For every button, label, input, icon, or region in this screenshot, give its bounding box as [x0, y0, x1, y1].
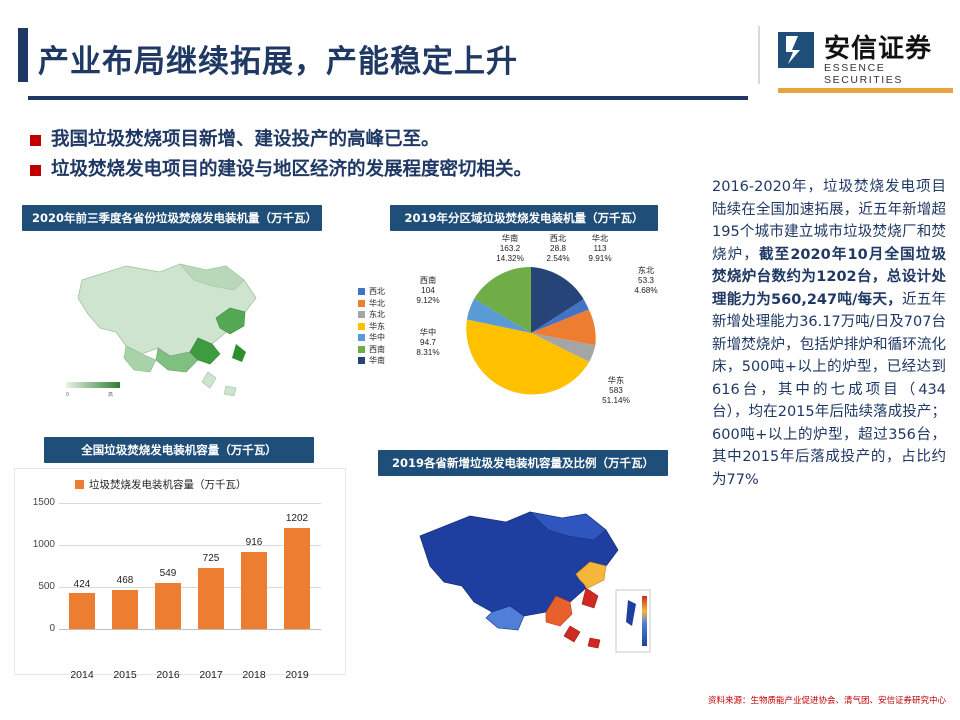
legend-swatch-capacity	[75, 480, 84, 489]
bar-legend: 垃圾焚烧发电装机容量（万千瓦）	[75, 477, 247, 492]
logo-english-name: ESSENCE SECURITIES	[824, 62, 953, 86]
bar-plot-area: 0 500 1000 1500 424 468 549 725 916 1202…	[59, 503, 321, 629]
pie-label-value: 163.2	[488, 244, 532, 254]
legend-label: 垃圾焚烧发电装机容量（万千瓦）	[89, 477, 247, 492]
pie-label-xinan: 西南 104 9.12%	[408, 276, 448, 306]
y-tick-label: 1000	[15, 539, 55, 550]
bullet-item: 垃圾焚烧发电项目的建设与地区经济的发展程度密切相关。	[30, 158, 720, 182]
logo-separator	[758, 26, 760, 84]
bar-2019	[284, 528, 310, 629]
pie-label-name: 华中	[408, 328, 448, 338]
china-map-green-svg: 0 高	[30, 236, 320, 421]
new-capacity-choropleth-map	[380, 480, 680, 670]
pie-label-name: 华南	[488, 234, 532, 244]
brand-logo: 安信证券 ESSENCE SECURITIES	[778, 28, 953, 88]
bar-x-axis	[59, 629, 321, 630]
pie-label-percent: 51.14%	[596, 396, 636, 406]
bar-2017	[198, 568, 224, 629]
right-text-part2: 近五年新增处理能力36.17万吨/日及707台新增焚烧炉，包括炉排炉和循环流化床…	[712, 292, 946, 488]
title-accent-bar	[18, 28, 28, 82]
svg-text:高: 高	[108, 391, 113, 398]
pie-label-huadong: 华东 583 51.14%	[596, 376, 636, 406]
china-map-blue-svg	[380, 480, 680, 670]
x-tick-2015: 2015	[103, 669, 147, 681]
bar-2015	[112, 590, 138, 629]
pie-label-percent: 8.31%	[408, 348, 448, 358]
bar-value-2019: 1202	[275, 513, 319, 524]
logo-chinese-name: 安信证券	[824, 28, 932, 65]
bar-value-2014: 424	[60, 579, 104, 590]
pie-label-huanan: 华南 163.2 14.32%	[488, 234, 532, 264]
province-choropleth-map: 0 高	[30, 236, 320, 421]
x-tick-2017: 2017	[189, 669, 233, 681]
pie-label-value: 53.3	[628, 276, 664, 286]
bullet-item: 我国垃圾焚烧项目新增、建设投产的高峰已至。	[30, 128, 720, 152]
pie-label-value: 113	[582, 244, 618, 254]
y-tick-label: 1500	[15, 497, 55, 508]
pie-label-name: 华北	[582, 234, 618, 244]
x-tick-2016: 2016	[146, 669, 190, 681]
pie-label-huazhong: 华中 94.7 8.31%	[408, 328, 448, 358]
y-tick-label: 500	[15, 581, 55, 592]
pie-label-huabei: 华北 113 9.91%	[582, 234, 618, 264]
pie-label-percent: 14.32%	[488, 254, 532, 264]
pie-label-value: 28.8	[540, 244, 576, 254]
bar-value-2015: 468	[103, 575, 147, 586]
pie-label-name: 西北	[540, 234, 576, 244]
bullet-square-icon	[30, 165, 41, 176]
bar-value-2017: 725	[189, 553, 233, 564]
page-title: 产业布局继续拓展，产能稳定上升	[38, 36, 518, 81]
pie-label-percent: 4.68%	[628, 286, 664, 296]
x-tick-2018: 2018	[232, 669, 276, 681]
bullet-text: 垃圾焚烧发电项目的建设与地区经济的发展程度密切相关。	[51, 158, 532, 182]
logo-underline	[778, 88, 953, 93]
bullet-text: 我国垃圾焚烧项目新增、建设投产的高峰已至。	[51, 128, 440, 152]
pie-label-percent: 9.12%	[408, 296, 448, 306]
bar-value-2016: 549	[146, 568, 190, 579]
capacity-bar-chart: 垃圾焚烧发电装机容量（万千瓦） 0 500 1000 1500 424 468 …	[14, 468, 346, 675]
pie-label-name: 西南	[408, 276, 448, 286]
pie-label-xibei: 西北 28.8 2.54%	[540, 234, 576, 264]
caption-new-capacity-map: 2019各省新增垃圾发电装机容量及比例（万千瓦）	[378, 450, 668, 476]
bar-value-2018: 916	[232, 537, 276, 548]
pie-label-percent: 9.91%	[582, 254, 618, 264]
caption-bar-chart: 全国垃圾焚烧发电装机容量（万千瓦）	[44, 437, 314, 463]
svg-text:0: 0	[66, 392, 69, 398]
slide: 产业布局继续拓展，产能稳定上升 安信证券 ESSENCE SECURITIES …	[0, 0, 960, 720]
source-note: 资料来源：生物质能产业促进协会、清气团、安信证券研究中心	[0, 694, 946, 706]
pie-label-value: 94.7	[408, 338, 448, 348]
pie-label-percent: 2.54%	[540, 254, 576, 264]
pie-label-name: 东北	[628, 266, 664, 276]
pie-label-value: 583	[596, 386, 636, 396]
title-underline	[28, 96, 748, 100]
bullet-square-icon	[30, 135, 41, 146]
essence-logo-icon	[778, 32, 814, 68]
right-text-block: 2016-2020年，垃圾焚烧发电项目陆续在全国加速拓展，近五年新增超195个城…	[712, 176, 946, 491]
region-pie-chart: 西北 华北 东北 华东 华中 西南 华南 华南	[356, 228, 686, 433]
bar-2018	[241, 552, 267, 629]
bar-2014	[69, 593, 95, 629]
x-tick-2014: 2014	[60, 669, 104, 681]
bar-2016	[155, 583, 181, 629]
bullet-list: 我国垃圾焚烧项目新增、建设投产的高峰已至。 垃圾焚烧发电项目的建设与地区经济的发…	[30, 128, 720, 188]
caption-province-map: 2020年前三季度各省份垃圾焚烧发电装机量（万千瓦）	[22, 205, 322, 231]
x-tick-2019: 2019	[275, 669, 319, 681]
y-tick-label: 0	[15, 623, 55, 634]
pie-label-dongbei: 东北 53.3 4.68%	[628, 266, 664, 296]
pie-label-value: 104	[408, 286, 448, 296]
pie-label-name: 华东	[596, 376, 636, 386]
